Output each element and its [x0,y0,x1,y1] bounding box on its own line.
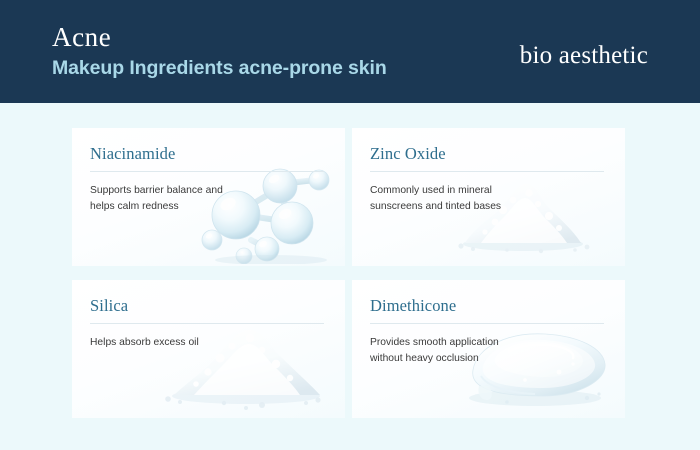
card-description: Helps absorb excess oil [90,335,250,351]
card-divider [370,171,604,172]
card-title: Zinc Oxide [370,144,607,164]
page-title: Acne [52,22,387,52]
ingredient-card-silica[interactable]: Silica Helps absorb excess oil [72,280,345,418]
card-title: Dimethicone [370,296,607,316]
card-title: Niacinamide [90,144,327,164]
page-subtitle: Makeup Ingredients acne-prone skin [52,56,387,80]
card-title: Silica [90,296,327,316]
card-description: Provides smooth application without heav… [370,335,530,367]
card-divider [90,323,324,324]
ingredient-card-grid: Niacinamide Supports barrier balance and… [72,128,625,418]
card-divider [90,171,324,172]
poster-canvas: Acne Makeup Ingredients acne-prone skin … [0,0,700,450]
ingredient-card-dimethicone[interactable]: Dimethicone Provides smooth application … [352,280,625,418]
brand-logo: bio aesthetic [520,42,648,70]
header-title-group: Acne Makeup Ingredients acne-prone skin [52,22,387,80]
page-header: Acne Makeup Ingredients acne-prone skin … [0,0,700,103]
card-divider [370,323,604,324]
card-description: Commonly used in mineral sunscreens and … [370,183,530,215]
white-powder-pile-illustration [150,304,335,416]
ingredient-card-zinc-oxide[interactable]: Zinc Oxide Commonly used in mineral suns… [352,128,625,266]
card-description: Supports barrier balance and helps calm … [90,183,250,215]
ingredient-card-niacinamide[interactable]: Niacinamide Supports barrier balance and… [72,128,345,266]
